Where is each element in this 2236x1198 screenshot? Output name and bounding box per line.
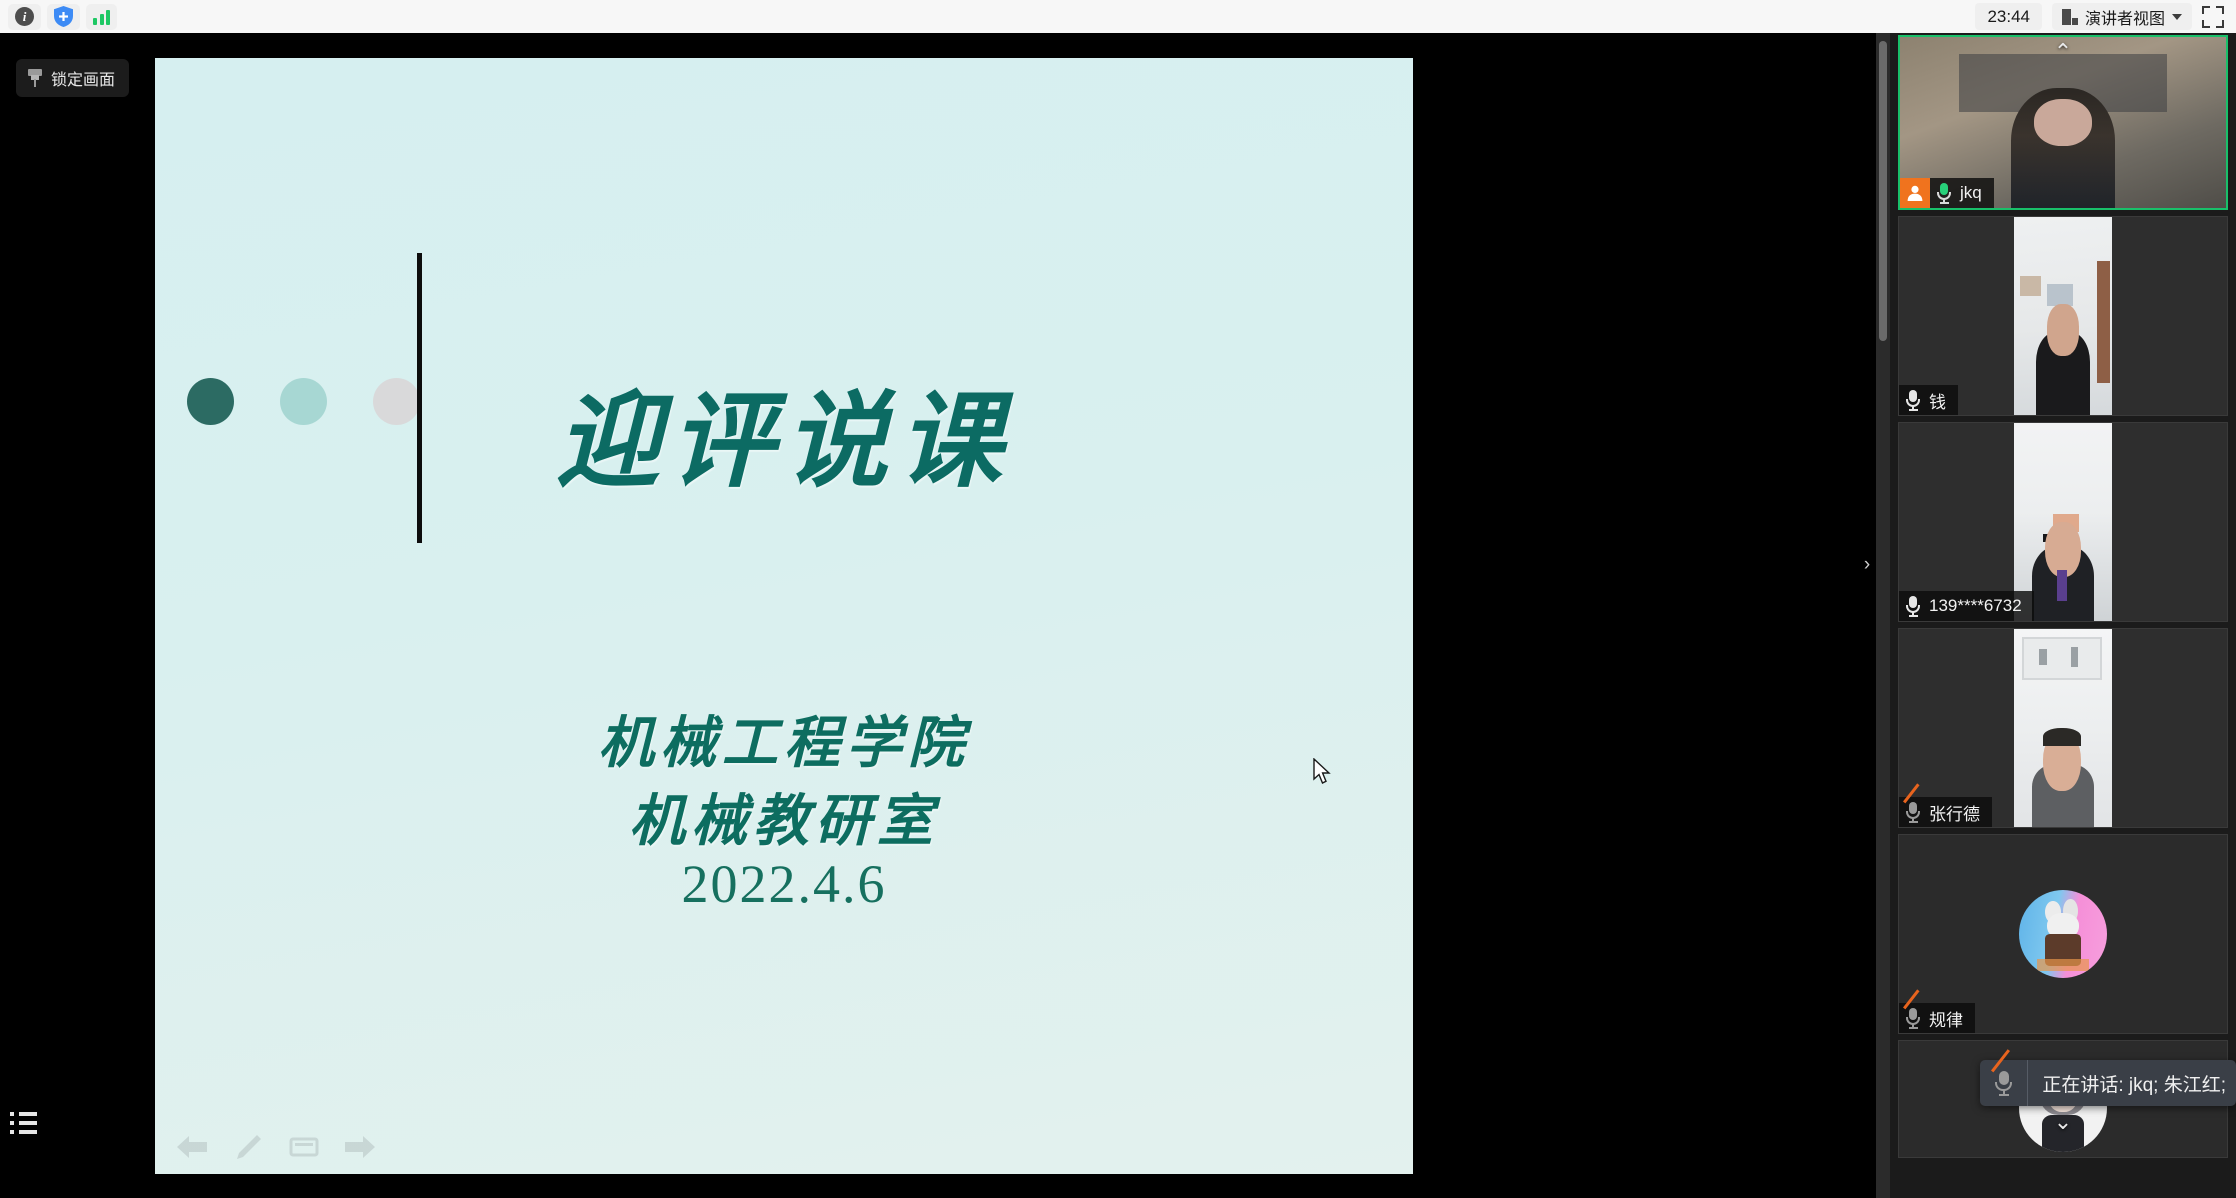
participant-tile-jkq[interactable]: jkq ⌃ (1898, 35, 2228, 210)
mic-unmuted-icon (1899, 385, 1927, 415)
slide-menu-button[interactable] (287, 1132, 321, 1162)
mic-muted-icon (1899, 1003, 1927, 1033)
mic-muted-icon (1980, 1060, 2028, 1106)
slide-subtitle-line1: 机械工程学院 (155, 698, 1413, 779)
lock-screen-label: 锁定画面 (51, 66, 115, 90)
slide-title: 迎评说课 (155, 356, 1413, 507)
host-badge-icon (1900, 178, 1930, 208)
participant-list: jkq ⌃ (1890, 33, 2236, 1198)
speaking-indicator-toast: 正在讲话: jkq; 朱江红; (1980, 1060, 2236, 1106)
network-status-button[interactable] (86, 4, 117, 30)
avatar (2019, 890, 2107, 978)
collapse-panel-button[interactable]: › (1856, 538, 1876, 592)
chevron-down-icon (2172, 14, 2182, 20)
participant-rail: jkq ⌃ (1876, 33, 2236, 1198)
layout-icon (2062, 9, 2078, 25)
participant-tile-guilv[interactable]: 规律 (1898, 834, 2228, 1034)
scroll-down-button[interactable]: ⌄ (2054, 1109, 2072, 1135)
mic-unmuted-icon (1899, 591, 1927, 621)
rail-scrollbar[interactable] (1876, 33, 1890, 1198)
participant-tile-qian[interactable]: 钱 (1898, 216, 2228, 416)
top-toolbar: i 23:44 (0, 0, 2236, 33)
participant-name: jkq (1958, 183, 1994, 203)
slide-date: 2022.4.6 (155, 853, 1413, 915)
participant-tile-zhangxingde[interactable]: 张行德 (1898, 628, 2228, 828)
view-mode-selector[interactable]: 演讲者视图 (2052, 3, 2192, 30)
shield-add-icon (54, 6, 73, 27)
participant-name: 规律 (1927, 1006, 1975, 1031)
slideshow-controls (175, 1132, 377, 1162)
view-mode-label: 演讲者视图 (2085, 5, 2165, 29)
meeting-window: i 23:44 (0, 0, 2236, 1198)
security-button[interactable] (47, 4, 80, 30)
lock-screen-button[interactable]: 锁定画面 (16, 59, 129, 97)
participant-tile-139[interactable]: 139****6732 (1898, 422, 2228, 622)
list-menu-icon[interactable] (10, 1110, 38, 1136)
mic-muted-icon (1899, 797, 1927, 827)
scroll-up-button[interactable]: ⌃ (2054, 39, 2072, 65)
participant-badge-139: 139****6732 (1899, 591, 2034, 621)
toolbar-right-group: 23:44 演讲者视图 (1975, 3, 2236, 30)
participant-badge-guilv: 规律 (1899, 1003, 1975, 1033)
clock-display: 23:44 (1975, 3, 2042, 30)
slide-subtitle-line2: 机械教研室 (155, 776, 1413, 857)
pen-tool-button[interactable] (231, 1132, 265, 1162)
participant-badge-qian: 钱 (1899, 385, 1958, 415)
info-icon: i (15, 7, 34, 26)
next-slide-button[interactable] (343, 1132, 377, 1162)
toolbar-left-group: i (0, 4, 117, 30)
network-signal-icon (93, 9, 110, 25)
participant-badge-jkq: jkq (1900, 178, 1994, 208)
presentation-slide: 迎评说课 机械工程学院 机械教研室 2022.4.6 (155, 58, 1413, 1174)
pin-icon (27, 69, 43, 87)
speaking-indicator-text: 正在讲话: jkq; 朱江红; (2028, 1070, 2236, 1097)
info-button[interactable]: i (8, 4, 41, 30)
rail-scrollbar-thumb[interactable] (1879, 41, 1887, 341)
fullscreen-button[interactable] (2202, 6, 2224, 28)
participant-badge-zhangxingde: 张行德 (1899, 797, 1992, 827)
shared-screen-stage: 锁定画面 迎评说课 机械工程学院 机械教研室 2022.4.6 (0, 33, 1876, 1198)
participant-name: 139****6732 (1927, 596, 2034, 616)
participant-name: 张行德 (1927, 800, 1992, 825)
previous-slide-button[interactable] (175, 1132, 209, 1162)
mic-unmuted-icon (1930, 178, 1958, 208)
participant-name: 钱 (1927, 388, 1958, 413)
